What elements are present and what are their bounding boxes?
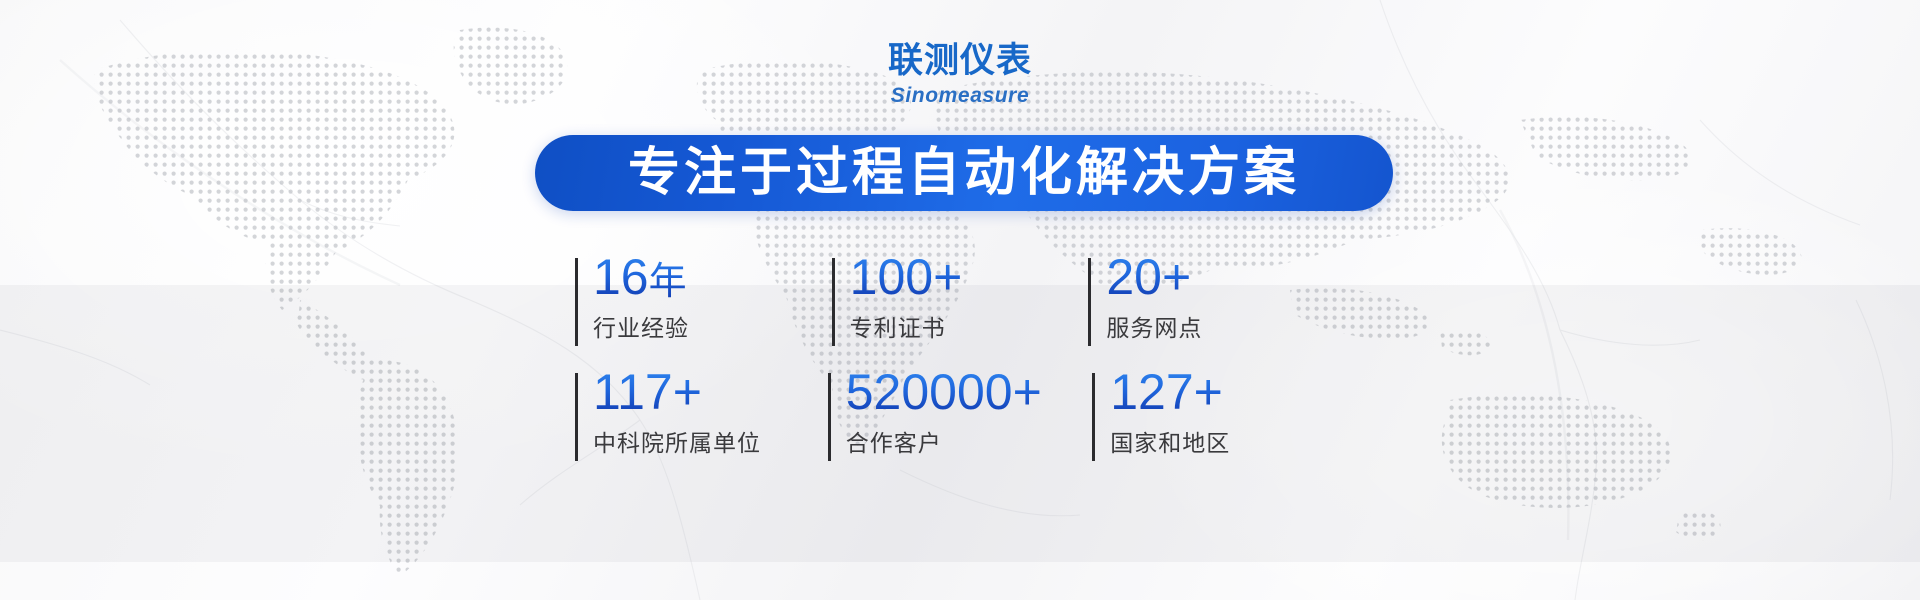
stat-item-customers: 520000+ 合作客户 [828,367,1093,482]
headline-pill: 专注于过程自动化解决方案 [535,135,1393,211]
stat-item-patents: 100+ 专利证书 [832,252,1089,367]
stats-row-2: 117+ 中科院所属单位 520000+ 合作客户 127+ 国家和地区 [575,367,1345,482]
stat-number: 100+ [850,249,963,305]
stat-value: 100+ [850,252,1089,303]
stat-value: 16年 [593,252,832,303]
stat-number: 127+ [1110,364,1223,420]
stats-grid: 16年 行业经验 100+ 专利证书 20+ 服务网点 117+ 中科院所属单位… [575,252,1345,482]
stat-item-cas-units: 117+ 中科院所属单位 [575,367,828,482]
stat-number: 16 [593,249,649,305]
stats-row-1: 16年 行业经验 100+ 专利证书 20+ 服务网点 [575,252,1345,367]
stat-value: 127+ [1110,367,1345,418]
stat-item-service-sites: 20+ 服务网点 [1088,252,1345,367]
headline-text: 专注于过程自动化解决方案 [628,147,1300,199]
stat-value: 520000+ [846,367,1093,418]
stat-item-countries: 127+ 国家和地区 [1092,367,1345,482]
stat-value: 20+ [1106,252,1345,303]
stat-item-years: 16年 行业经验 [575,252,832,367]
stat-label: 专利证书 [850,309,1089,343]
stat-label: 行业经验 [593,309,832,343]
stat-number: 520000+ [846,364,1042,420]
brand-logo: 联测仪表 Sinomeasure [0,44,1920,106]
stat-unit: 年 [649,259,687,303]
stat-label: 国家和地区 [1110,424,1345,458]
stat-label: 中科院所属单位 [593,424,828,458]
brand-logo-en: Sinomeasure [0,85,1920,106]
brand-logo-cn: 联测仪表 [0,44,1920,79]
stat-number: 117+ [593,364,702,420]
stat-value: 117+ [593,367,828,418]
stat-number: 20+ [1106,249,1191,305]
hero-banner: 联测仪表 Sinomeasure 专注于过程自动化解决方案 16年 行业经验 1… [0,0,1920,600]
stat-label: 合作客户 [846,424,1093,458]
stat-label: 服务网点 [1106,309,1345,343]
